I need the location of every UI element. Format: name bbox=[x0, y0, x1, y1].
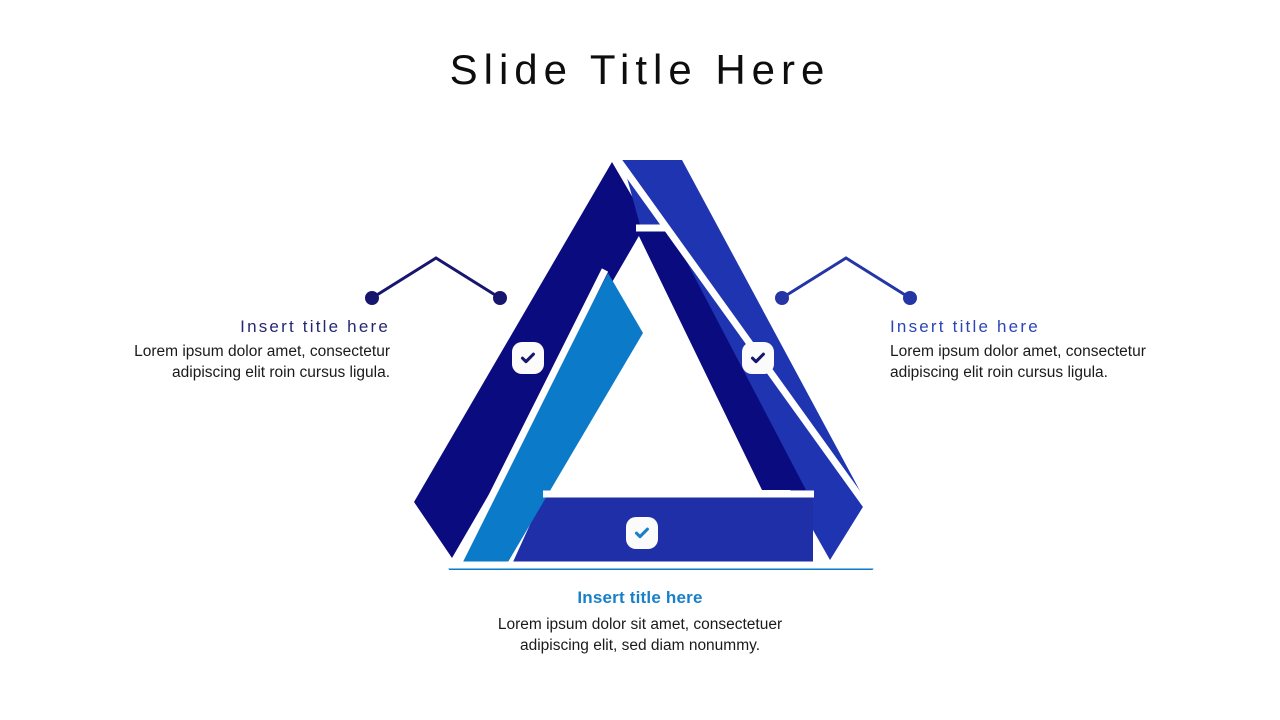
badge-right[interactable] bbox=[742, 342, 774, 374]
text-block-right-body: Lorem ipsum dolor amet, consectetur adip… bbox=[890, 341, 1180, 383]
text-block-left-body-line2: adipiscing elit roin cursus ligula. bbox=[100, 362, 390, 383]
badge-bottom[interactable] bbox=[626, 517, 658, 549]
connector-right-line bbox=[782, 258, 910, 298]
penrose-triangle-diagram bbox=[400, 150, 880, 570]
text-block-left-title: Insert title here bbox=[100, 314, 390, 340]
text-block-bottom-body: Lorem ipsum dolor sit amet, consectetuer… bbox=[440, 614, 840, 656]
connector-left-dot-end bbox=[493, 291, 507, 305]
text-block-bottom-body-line1: Lorem ipsum dolor sit amet, consectetuer bbox=[440, 614, 840, 635]
text-block-bottom: Insert title here Lorem ipsum dolor sit … bbox=[440, 585, 840, 656]
slide-canvas: Slide Title Here bbox=[0, 0, 1280, 720]
text-block-left-body: Lorem ipsum dolor amet, consectetur adip… bbox=[100, 341, 390, 383]
connector-left bbox=[360, 248, 530, 312]
text-block-right-title: Insert title here bbox=[890, 314, 1180, 340]
text-block-right-body-line1: Lorem ipsum dolor amet, consectetur bbox=[890, 341, 1180, 362]
connector-left-dot-start bbox=[365, 291, 379, 305]
check-icon bbox=[519, 349, 537, 367]
text-block-right-body-line2: adipiscing elit roin cursus ligula. bbox=[890, 362, 1180, 383]
badge-left[interactable] bbox=[512, 342, 544, 374]
text-block-bottom-body-line2: adipiscing elit, sed diam nonummy. bbox=[440, 635, 840, 656]
text-block-right: Insert title here Lorem ipsum dolor amet… bbox=[890, 314, 1180, 383]
text-block-left-body-line1: Lorem ipsum dolor amet, consectetur bbox=[100, 341, 390, 362]
check-icon bbox=[633, 524, 651, 542]
page-title: Slide Title Here bbox=[0, 42, 1280, 98]
text-block-left: Insert title here Lorem ipsum dolor amet… bbox=[100, 314, 390, 383]
connector-right bbox=[772, 248, 942, 312]
text-block-bottom-title: Insert title here bbox=[440, 585, 840, 611]
connector-right-dot-end bbox=[903, 291, 917, 305]
connector-right-dot-start bbox=[775, 291, 789, 305]
check-icon bbox=[749, 349, 767, 367]
connector-left-line bbox=[372, 258, 500, 298]
triangle-inner-blue-bar bbox=[513, 496, 813, 562]
